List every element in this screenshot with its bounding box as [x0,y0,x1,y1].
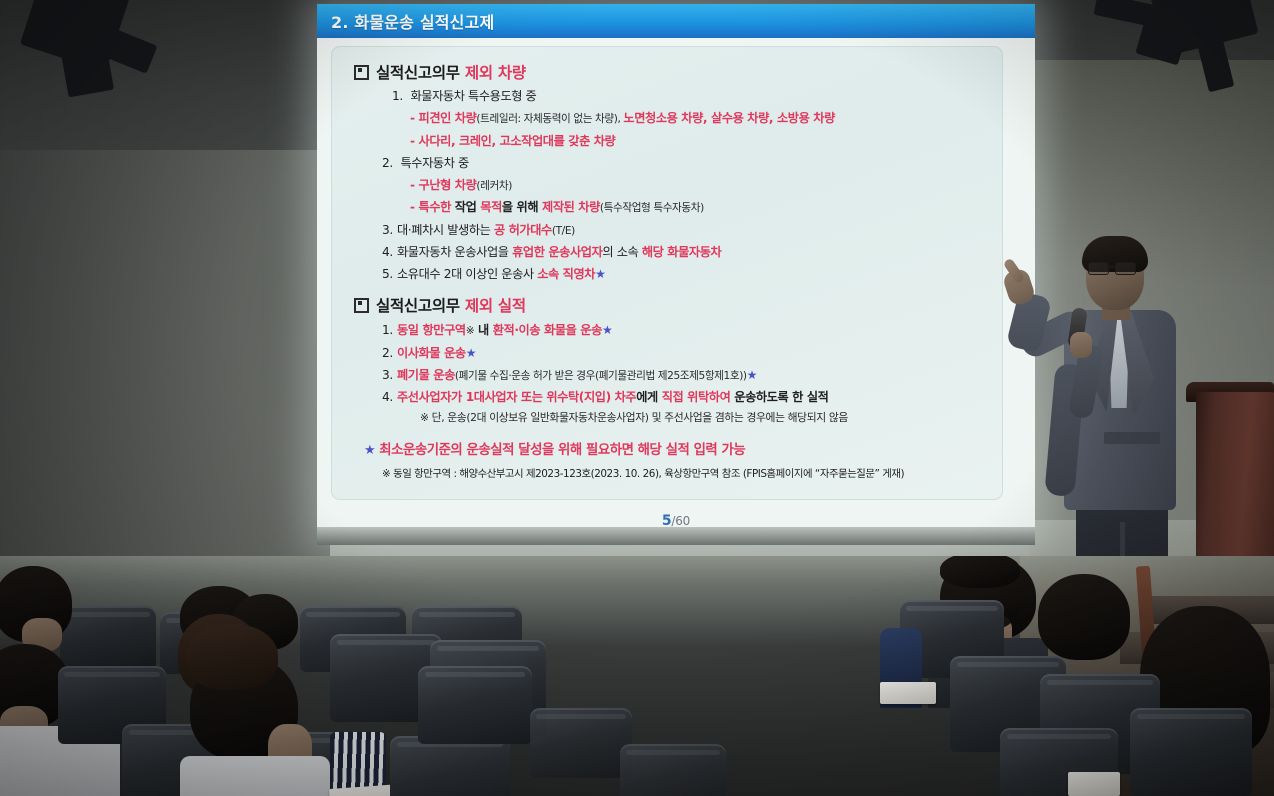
list-item: - 특수한 작업 목적을 위해 제작된 차량(특수작업형 특수자동차) [410,200,988,215]
list-item-note: ※ 단, 운송(2대 이상보유 일반화물자동차운송사업자) 및 주선사업을 겸하… [420,411,988,424]
seat [1130,708,1252,796]
list-item: 2. 특수자동차 중 [382,156,988,171]
slide-body: 실적신고의무 제외 차량 1. 화물자동차 특수용도형 중 - 피견인 차량(트… [317,38,1035,541]
seat [620,744,726,796]
final-highlight-line: ★최소운송기준의 운송실적 달성을 위해 필요하면 해당 실적 입력 가능 [364,438,988,458]
eyeglasses-icon [1088,262,1138,273]
slide: 2. 화물운송 실적신고제 실적신고의무 제외 차량 1. 화물자동차 특수용도… [317,4,1035,541]
seat [530,708,632,778]
star-icon: ★ [364,443,375,458]
section-heading-excluded-vehicles: 실적신고의무 제외 차량 [354,61,988,83]
star-icon: ★ [595,267,605,281]
presenter-mic-hand [1070,332,1092,358]
audience-shirt [180,756,330,796]
section-title: 실적신고의무 제외 실적 [376,294,526,316]
audience-head [1038,574,1130,660]
notebook [1068,772,1120,796]
left-wall [0,150,330,620]
slide-content-panel: 실적신고의무 제외 차량 1. 화물자동차 특수용도형 중 - 피견인 차량(트… [331,46,1003,500]
list-item: 3.대·폐차시 발생하는 공 허가대수(T/E) [382,223,988,238]
list-item: - 사다리, 크레인, 고소작업대를 갖춘 차량 [410,134,988,149]
list-item: 2.이사화물 운송★ [382,346,988,361]
projection-screen: 2. 화물운송 실적신고제 실적신고의무 제외 차량 1. 화물자동차 특수용도… [317,4,1035,541]
star-icon: ★ [602,323,612,337]
seat [390,736,510,796]
list-item: 3.폐기물 운송(폐기물 수집·운송 허가 받은 경우(폐기물관리법 제25조제… [382,368,988,383]
notebook [880,682,936,704]
audience-head [940,556,1020,588]
audience-area [0,556,1274,796]
section-title: 실적신고의무 제외 차량 [376,61,526,83]
presenter-jacket-pocket [1104,432,1160,444]
section-heading-excluded-records: 실적신고의무 제외 실적 [354,294,988,316]
bullet-square-icon [354,65,369,80]
seat [418,666,532,744]
list-item: 4.화물자동차 운송사업을 휴업한 운송사업자의 소속 해당 화물자동차 [382,245,988,260]
slide-title-bar: 2. 화물운송 실적신고제 [317,4,1035,38]
slide-footnote: ※ 동일 항만구역 : 해양수산부고시 제2023-123호(2023. 10.… [382,465,988,480]
presenter [1008,236,1208,586]
slide-title: 2. 화물운송 실적신고제 [331,9,494,33]
list-item: 4.주선사업자가 1대사업자 또는 위수탁(지입) 차주에게 직접 위탁하여 운… [382,390,988,405]
list-item: - 구난형 차량(레커차) [410,178,988,193]
bullet-square-icon [354,298,369,313]
list-item: 1.동일 항만구역※ 내 환적·이송 화물을 운송★ [382,323,988,338]
list-item: 5.소유대수 2대 이상인 운송사 소속 직영차★ [382,267,988,282]
list-item: - 피견인 차량(트레일러: 자체동력이 없는 차량), 노면청소용 차량, 살… [410,111,988,126]
lecture-hall-photo: 2. 화물운송 실적신고제 실적신고의무 제외 차량 1. 화물자동차 특수용도… [0,0,1274,796]
star-icon: ★ [747,368,757,382]
seat [60,606,156,670]
screen-bottom-trim [317,527,1035,545]
star-icon: ★ [466,346,476,360]
audience-head [186,624,278,690]
list-item: 1. 화물자동차 특수용도형 중 [392,89,988,104]
